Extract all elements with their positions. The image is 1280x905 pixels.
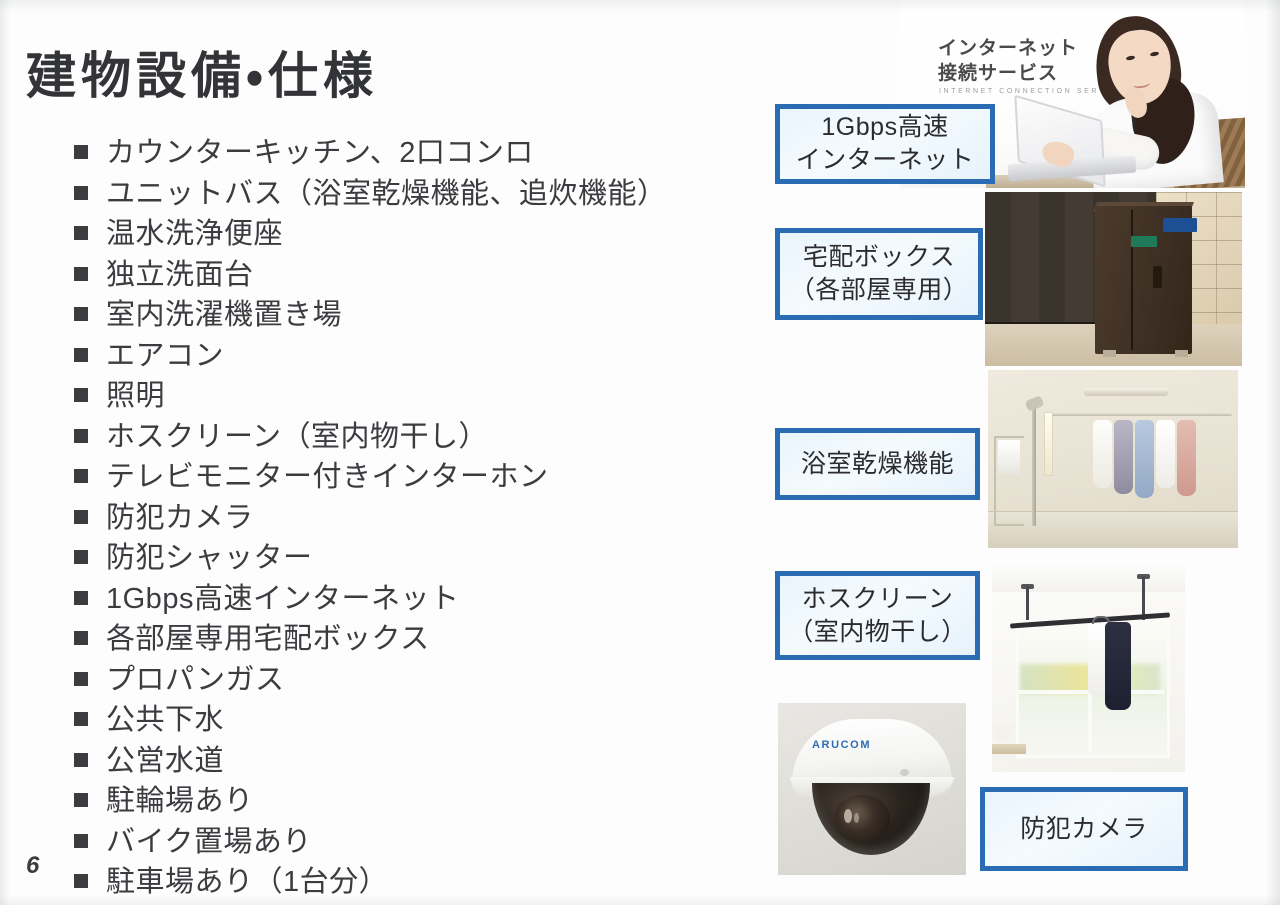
square-bullet-icon — [74, 550, 88, 564]
shower-slide-bar — [1032, 406, 1036, 526]
spec-label: カウンターキッチン、2口コンロ — [106, 133, 534, 173]
square-bullet-icon — [74, 591, 88, 605]
camera-brand-label: ARUCOM — [812, 739, 871, 751]
square-bullet-icon — [74, 307, 88, 321]
square-bullet-icon — [74, 267, 88, 281]
square-bullet-icon — [74, 753, 88, 767]
square-bullet-icon — [74, 145, 88, 159]
spec-label: 各部屋専用宅配ボックス — [106, 619, 430, 659]
shower-head — [1025, 395, 1045, 412]
list-item: 室内洗濯機置き場 — [74, 295, 734, 336]
spec-label: 照明 — [106, 376, 165, 416]
square-bullet-icon — [74, 631, 88, 645]
list-item: テレビモニター付きインターホン — [74, 457, 734, 498]
callout-security-camera-text: 防犯カメラ — [1020, 813, 1148, 846]
page-number: 6 — [26, 852, 39, 880]
spec-list: カウンターキッチン、2口コンロ ユニットバス（浴室乾燥機能、追炊機能） 温水洗浄… — [74, 133, 734, 903]
square-bullet-icon — [74, 510, 88, 524]
hanging-garment — [1156, 420, 1175, 488]
slide-canvas: 建物設備・仕様 カウンターキッチン、2口コンロ ユニットバス（浴室乾燥機能、追炊… — [0, 0, 1280, 905]
delivery-box-foot-left — [1103, 350, 1116, 357]
camera-screw — [900, 769, 909, 776]
ceiling-dryer-unit — [1084, 388, 1168, 396]
list-item: 1Gbps高速インターネット — [74, 579, 734, 620]
square-bullet-icon — [74, 712, 88, 726]
spec-label: エアコン — [106, 336, 224, 376]
list-item: 駐輪場あり — [74, 781, 734, 822]
list-item: 各部屋専用宅配ボックス — [74, 619, 734, 660]
square-bullet-icon — [74, 348, 88, 362]
list-item: 公営水道 — [74, 741, 734, 782]
spec-label: 防犯シャッター — [106, 538, 313, 578]
spec-label: ホスクリーン（室内物干し） — [106, 417, 488, 457]
hanging-garment — [1135, 420, 1154, 498]
spec-label: 駐輪場あり — [106, 781, 254, 821]
side-table — [992, 744, 1026, 754]
towel — [998, 440, 1020, 474]
clothes-rail — [1050, 412, 1232, 416]
photo-security-camera: ARUCOM — [778, 703, 966, 875]
list-item: バイク置場あり — [74, 822, 734, 863]
photo-internet-headline: インターネット 接続サービス — [938, 36, 1078, 86]
callout-bathroom-dryer: 浴室乾燥機能 — [775, 428, 980, 500]
square-bullet-icon — [74, 469, 88, 483]
photo-bathroom-dryer — [988, 370, 1238, 548]
callout-internet: 1Gbps高速 インターネット — [775, 104, 995, 184]
list-item: エアコン — [74, 336, 734, 377]
list-item: プロパンガス — [74, 660, 734, 701]
list-item: 防犯カメラ — [74, 498, 734, 539]
square-bullet-icon — [74, 186, 88, 200]
spec-label: バイク置場あり — [106, 822, 312, 862]
spec-label: ユニットバス（浴室乾燥機能、追炊機能） — [106, 174, 667, 214]
callout-drying-rail-text: ホスクリーン （室内物干し） — [788, 583, 967, 649]
list-item: 駐車場あり（1台分） — [74, 862, 734, 903]
callout-internet-text: 1Gbps高速 インターネット — [796, 111, 975, 177]
delivery-box-blue-label — [1163, 218, 1197, 232]
callout-delivery-box: 宅配ボックス （各部屋専用） — [775, 228, 983, 320]
spec-label: 公共下水 — [106, 700, 224, 740]
spec-label: 防犯カメラ — [106, 498, 254, 538]
square-bullet-icon — [74, 429, 88, 443]
spec-label: 温水洗浄便座 — [106, 214, 283, 254]
spec-label: 1Gbps高速インターネット — [106, 579, 459, 619]
lens-glint — [844, 809, 852, 823]
list-item: 独立洗面台 — [74, 255, 734, 296]
camera-lens — [834, 795, 890, 843]
hanging-dark-garment — [1105, 622, 1131, 710]
lens-glint-secondary — [854, 813, 859, 823]
spec-label: 室内洗濯機置き場 — [106, 295, 342, 335]
spec-label: 駐車場あり（1台分） — [106, 862, 388, 902]
square-bullet-icon — [74, 793, 88, 807]
callout-delivery-box-text: 宅配ボックス （各部屋専用） — [790, 241, 969, 307]
delivery-box-handle — [1153, 266, 1162, 288]
page-title: 建物設備・仕様 — [26, 36, 378, 108]
delivery-box-door-seam — [1131, 210, 1133, 350]
hanging-garment — [1114, 420, 1133, 494]
list-item: ホスクリーン（室内物干し） — [74, 417, 734, 458]
list-item: 照明 — [74, 376, 734, 417]
list-item: ユニットバス（浴室乾燥機能、追炊機能） — [74, 174, 734, 215]
hanging-garment — [1093, 420, 1112, 488]
square-bullet-icon — [74, 874, 88, 888]
spec-label: テレビモニター付きインターホン — [106, 457, 549, 497]
photo-delivery-box — [985, 192, 1242, 366]
list-item: カウンターキッチン、2口コンロ — [74, 133, 734, 174]
photo-internet-subline: INTERNET CONNECTION SERVICE — [939, 88, 1126, 95]
list-item: 防犯シャッター — [74, 538, 734, 579]
callout-drying-rail: ホスクリーン （室内物干し） — [775, 571, 980, 660]
spec-label: 公営水道 — [106, 741, 224, 781]
photo-indoor-drying-rail — [992, 558, 1185, 772]
spec-label: プロパンガス — [106, 660, 284, 700]
list-item: 温水洗浄便座 — [74, 214, 734, 255]
callout-security-camera: 防犯カメラ — [980, 787, 1188, 871]
square-bullet-icon — [74, 834, 88, 848]
delivery-box-foot-right — [1175, 350, 1188, 357]
list-item: 公共下水 — [74, 700, 734, 741]
callout-bathroom-dryer-text: 浴室乾燥機能 — [801, 448, 954, 481]
bathroom-light — [1044, 412, 1053, 476]
bathtub-edge — [988, 511, 1238, 548]
spec-label: 独立洗面台 — [106, 255, 254, 295]
hanging-garment — [1177, 420, 1196, 496]
square-bullet-icon — [74, 388, 88, 402]
drop-rod-left — [1026, 586, 1029, 620]
vase — [994, 724, 1012, 742]
square-bullet-icon — [74, 226, 88, 240]
square-bullet-icon — [74, 672, 88, 686]
delivery-box-green-label — [1131, 236, 1157, 247]
